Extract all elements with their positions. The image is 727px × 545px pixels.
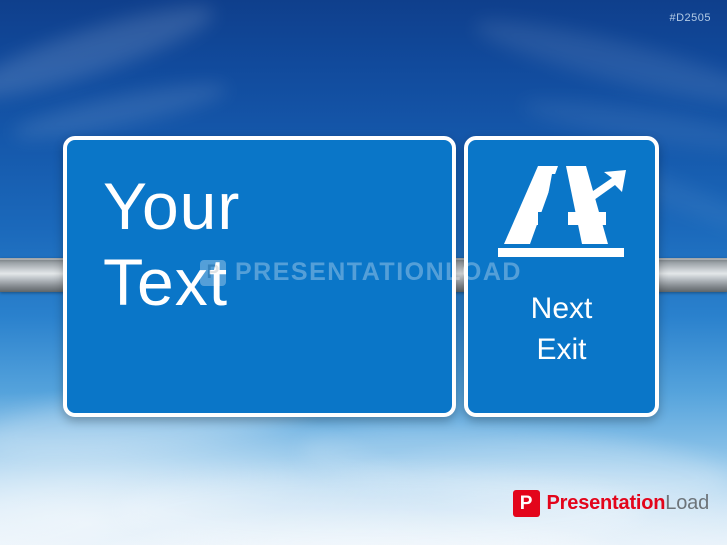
slide-canvas: #D2505 PRESENTATIONLOAD Your Text bbox=[0, 0, 727, 545]
presentationload-logo[interactable]: PresentationLoad bbox=[513, 490, 709, 517]
presentationload-logo-word: PresentationLoad bbox=[547, 492, 709, 515]
document-code: #D2505 bbox=[669, 12, 711, 24]
presentationload-logo-mark-icon bbox=[513, 490, 540, 517]
logo-word-primary: Presentation bbox=[547, 492, 666, 514]
logo-word-secondary: Load bbox=[665, 492, 709, 514]
exit-sign-text[interactable]: Next Exit bbox=[531, 288, 593, 370]
main-sign-text[interactable]: Your Text bbox=[103, 168, 416, 320]
watermark-text: PRESENTATIONLOAD bbox=[235, 258, 522, 287]
motorway-icon bbox=[496, 166, 628, 270]
watermark-mark-icon bbox=[200, 260, 226, 286]
watermark: PRESENTATIONLOAD bbox=[200, 258, 522, 287]
